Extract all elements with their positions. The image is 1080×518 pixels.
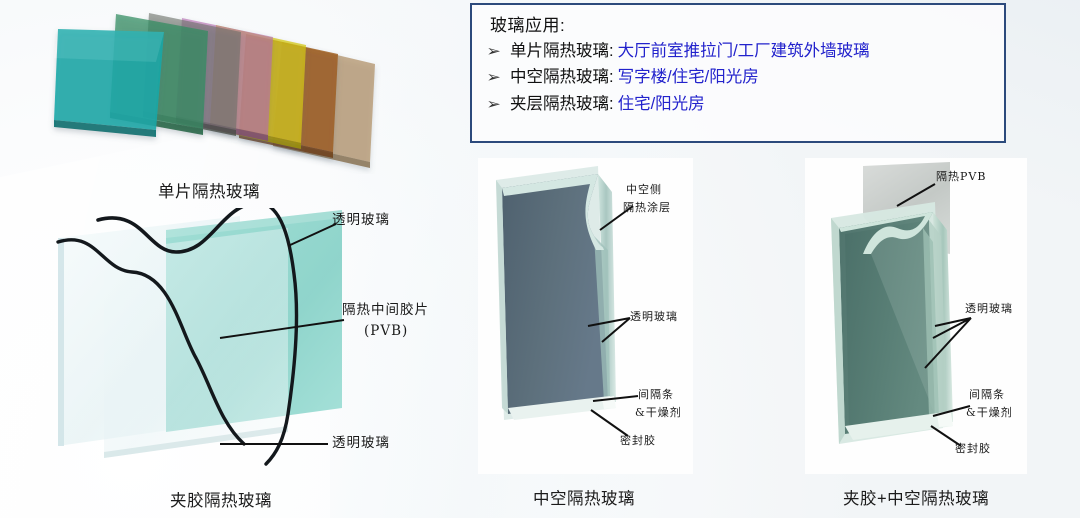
caption-laminated-glass: 夹胶隔热玻璃 bbox=[170, 487, 272, 511]
label-sealant: 密封胶 bbox=[620, 434, 656, 448]
laminated-igu-diagram-panel: 隔热PVB 透明玻璃 间隔条 &干燥剂 密封胶 bbox=[805, 158, 1027, 474]
callout-item-laminated: ➢ 夹层隔热玻璃: 住宅/阳光房 bbox=[488, 96, 1004, 113]
label-coating-line1: 中空侧 bbox=[626, 183, 662, 197]
colored-glass-fan-svg bbox=[30, 2, 420, 174]
label-clear-glass: 透明玻璃 bbox=[630, 310, 678, 324]
callout-item-single: ➢ 单片隔热玻璃: 大厅前室推拉门/工厂建筑外墙玻璃 bbox=[488, 43, 1004, 60]
laminated-glass-diagram: 透明玻璃 隔热中间胶片 (PVB) 透明玻璃 bbox=[44, 208, 464, 473]
label-clear-glass-bottom: 透明玻璃 bbox=[332, 435, 390, 452]
callout-item-value: 住宅/阳光房 bbox=[618, 96, 705, 113]
callout-item-igu: ➢ 中空隔热玻璃: 写字楼/住宅/阳光房 bbox=[488, 69, 1004, 86]
igu-diagram-panel: 中空侧 隔热涂层 透明玻璃 间隔条 &干燥剂 密封胶 bbox=[478, 158, 693, 474]
label-clear-glass-top: 透明玻璃 bbox=[332, 212, 390, 229]
label-pvb: 隔热PVB bbox=[936, 170, 986, 184]
label-clear-glass: 透明玻璃 bbox=[965, 302, 1013, 316]
label-coating-line2: 隔热涂层 bbox=[623, 201, 671, 215]
arrow-bullet-icon: ➢ bbox=[486, 44, 511, 60]
teal-inner-face bbox=[845, 220, 935, 432]
callout-item-label: 中空隔热玻璃: bbox=[510, 69, 614, 86]
callout-item-value: 写字楼/住宅/阳光房 bbox=[618, 69, 759, 86]
callout-item-value: 大厅前室推拉门/工厂建筑外墙玻璃 bbox=[618, 43, 870, 60]
callout-title: 玻璃应用: bbox=[490, 17, 1004, 34]
clear-glass-pane-front bbox=[104, 228, 288, 458]
glass-application-callout: 玻璃应用: ➢ 单片隔热玻璃: 大厅前室推拉门/工厂建筑外墙玻璃 ➢ 中空隔热玻… bbox=[470, 3, 1006, 143]
label-pvb-interlayer-line2: (PVB) bbox=[364, 323, 408, 340]
label-spacer-line2: &干燥剂 bbox=[635, 406, 682, 420]
label-spacer-line1: 间隔条 bbox=[638, 388, 674, 402]
arrow-bullet-icon: ➢ bbox=[486, 70, 511, 86]
label-sealant: 密封胶 bbox=[955, 442, 991, 456]
callout-item-label: 夹层隔热玻璃: bbox=[510, 96, 614, 113]
slide-canvas: 玻璃应用: ➢ 单片隔热玻璃: 大厅前室推拉门/工厂建筑外墙玻璃 ➢ 中空隔热玻… bbox=[0, 0, 1080, 518]
colored-glass-fan bbox=[30, 2, 420, 174]
caption-igu-glass: 中空隔热玻璃 bbox=[533, 485, 635, 509]
caption-laminated-igu-glass: 夹胶+中空隔热玻璃 bbox=[843, 485, 989, 509]
sheet-cyan bbox=[54, 29, 164, 137]
label-spacer-line1: 间隔条 bbox=[969, 388, 1005, 402]
label-spacer-line2: &干燥剂 bbox=[966, 406, 1013, 420]
label-pvb-interlayer-line1: 隔热中间胶片 bbox=[342, 302, 429, 319]
caption-single-glass: 单片隔热玻璃 bbox=[158, 178, 260, 202]
callout-item-label: 单片隔热玻璃: bbox=[510, 43, 614, 60]
arrow-bullet-icon: ➢ bbox=[486, 97, 511, 113]
laminated-glass-svg bbox=[44, 208, 464, 473]
